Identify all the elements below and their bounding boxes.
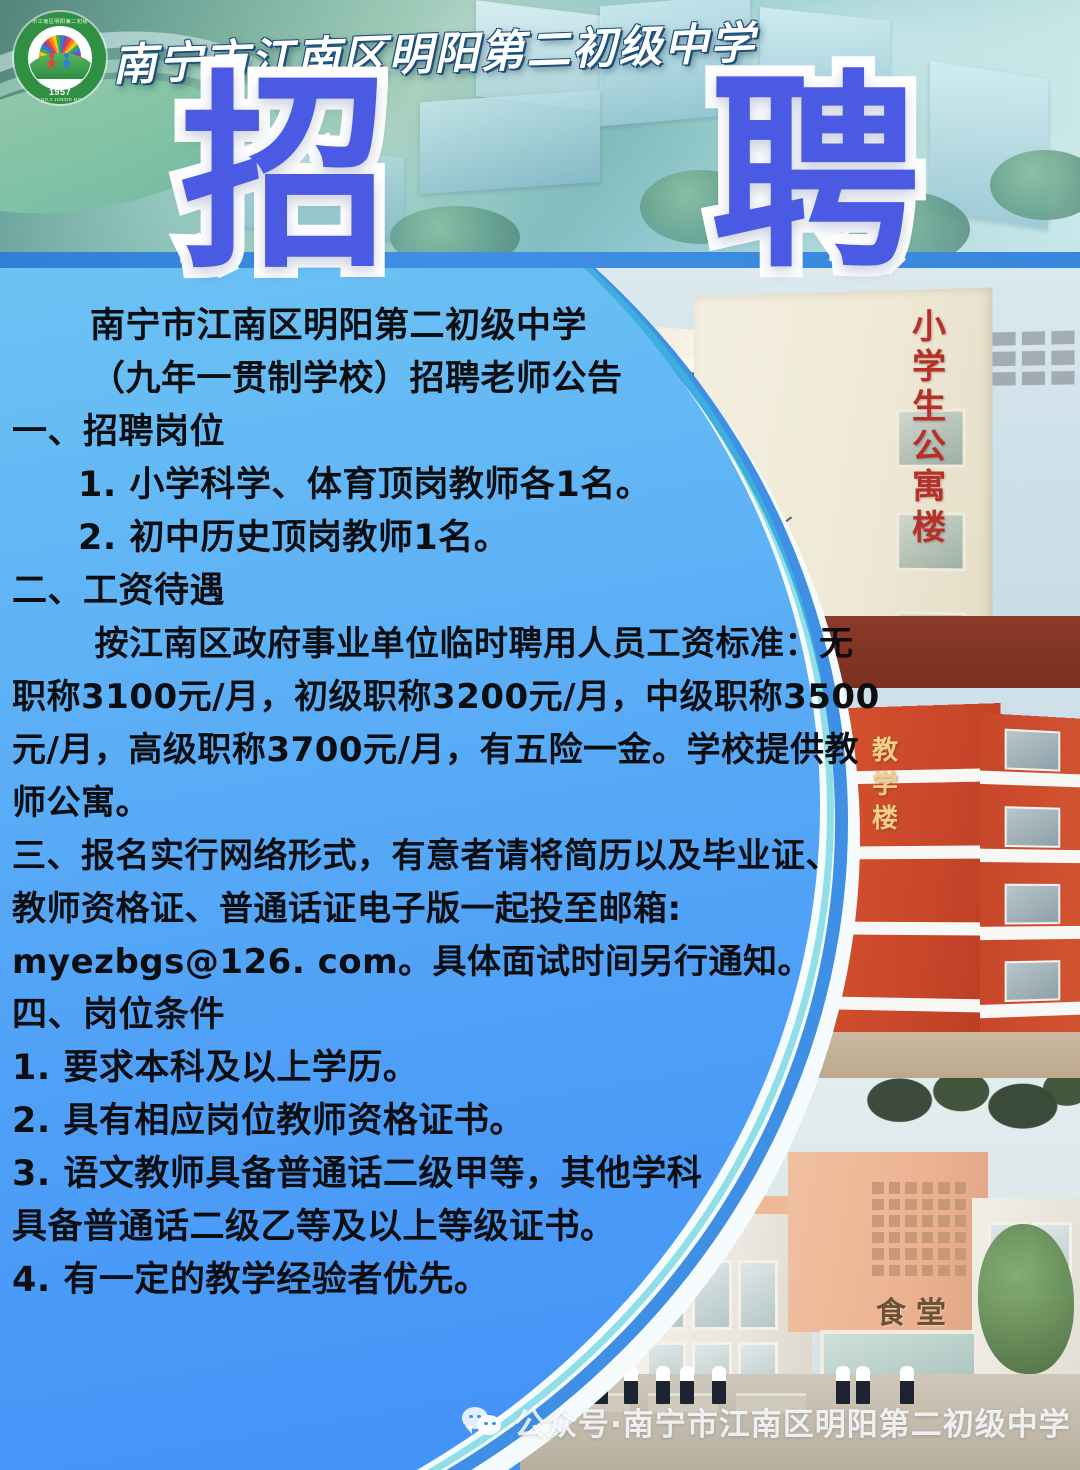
section-heading-4: 四、岗位条件 [0,989,800,1042]
student-figure-icon [62,53,71,71]
section-4-item-3-cont: 具备普通话二级乙等及以上等级证书。 [0,1201,800,1254]
teaching-building-sign-text: 教学楼 [872,734,906,835]
announcement-title-line-1: 南宁市江南区明阳第二初级中学 [0,300,800,353]
section-4-item-1: 1. 要求本科及以上学历。 [0,1042,800,1095]
section-4-item-2: 2. 具有相应岗位教师资格证书。 [0,1095,800,1148]
section-heading-1: 一、招聘岗位 [0,406,800,459]
section-1-item-1: 1. 小学科学、体育顶岗教师各1名。 [0,459,800,512]
section-4-item-3: 3. 语文教师具备普通话二级甲等，其他学科 [0,1148,800,1201]
header-accent-bar [0,252,1080,268]
wechat-footer: 公众号·南宁市江南区明阳第二初级中学 [462,1399,1071,1444]
section-4-item-4: 4. 有一定的教学经验者优先。 [0,1254,800,1307]
section-2-line-2: 职称3100元/月，初级职称3200元/月，中级职称3500 [0,671,800,724]
student-figure-icon [47,53,56,71]
logo-founding-year: 1957 [14,87,106,97]
recruitment-poster: 小学生公寓楼 [0,0,1080,1470]
wechat-account-text: 公众号·南宁市江南区明阳第二初级中学 [514,1399,1071,1444]
section-2-line-1: 按江南区政府事业单位临时聘用人员工资标准：无 [0,618,800,671]
section-heading-2: 二、工资待遇 [0,565,800,618]
section-3-email-line: myezbgs@126. com。具体面试时间另行通知。 [0,936,800,989]
dormitory-sign-text: 小学生公寓楼 [912,308,956,549]
tree [978,1224,1074,1374]
announcement-title-line-2: （九年一贯制学校）招聘老师公告 [0,353,800,406]
section-2-line-3: 元/月，高级职称3700元/月，有五险一金。学校提供教 [0,724,800,777]
logo-ring-text-bottom: MINGYANG NO.2 JUNIOR MIDDLE SCHOOL [14,97,106,102]
lattice-window-grid [872,1182,966,1276]
school-logo: 南宁市江南区明阳第二初级中学 1957 MINGYANG NO.2 JUNIOR… [14,12,106,104]
section-2-line-4: 师公寓。 [0,777,800,830]
red-side-wall [980,713,1080,1078]
logo-ring-text-top: 南宁市江南区明阳第二初级中学 [14,18,106,25]
hill-shape [29,53,91,79]
section-1-item-2: 2. 初中历史顶岗教师1名。 [0,512,800,565]
wall-vent-grid [993,331,1075,386]
wechat-icon [462,1407,502,1437]
announcement-body: 南宁市江南区明阳第二初级中学 （九年一贯制学校）招聘老师公告 一、招聘岗位 1.… [0,300,800,1307]
section-3-line-1: 三、报名实行网络形式，有意者请将简历以及毕业证、 [0,830,800,883]
tree-branch [860,1078,1080,1152]
section-3-line-2: 教师资格证、普通话证电子版一起投至邮箱: [0,883,800,936]
logo-inner-disc [29,27,91,89]
cafeteria-sign-text: 食堂 [876,1288,956,1332]
